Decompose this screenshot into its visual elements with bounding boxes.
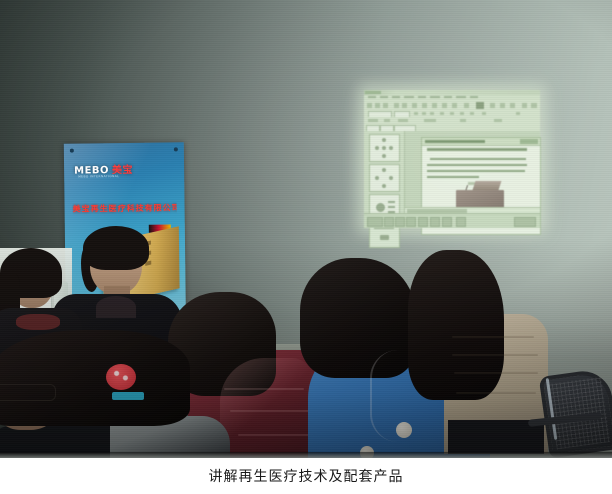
screenshot-page: MEBO美宝 MEBO INTERNATIONAL 美宝再生医疗科技有限公司	[0, 0, 612, 494]
photo-frame: MEBO美宝 MEBO INTERNATIONAL 美宝再生医疗科技有限公司	[0, 0, 612, 458]
slide-title-bar	[422, 138, 540, 146]
slide-edit-canvas[interactable]	[405, 131, 540, 214]
caption-area: 讲解再生医疗技术及配套产品	[0, 458, 612, 494]
eyeglasses	[0, 384, 56, 401]
conference-room-photo: MEBO美宝 MEBO INTERNATIONAL 美宝再生医疗科技有限公司	[0, 0, 612, 458]
slide-title-text	[427, 148, 527, 151]
slide-thumbnail[interactable]	[369, 134, 400, 162]
windows-taskbar[interactable]	[364, 213, 540, 228]
photo-caption: 讲解再生医疗技术及配套产品	[0, 466, 612, 486]
red-hair-tie	[106, 364, 136, 390]
banner-headline: 美宝再生医疗科技有限公司	[73, 202, 177, 214]
mebo-sub-text: MEBO INTERNATIONAL	[78, 174, 119, 179]
attendee-woman-foreground-glasses	[0, 330, 220, 458]
office-chair	[520, 372, 612, 458]
hair-clip	[112, 392, 144, 400]
projected-powerpoint-screen	[364, 90, 540, 228]
slide-thumbnail[interactable]	[369, 164, 400, 192]
slide-thumbnail-pane[interactable]	[364, 131, 405, 214]
